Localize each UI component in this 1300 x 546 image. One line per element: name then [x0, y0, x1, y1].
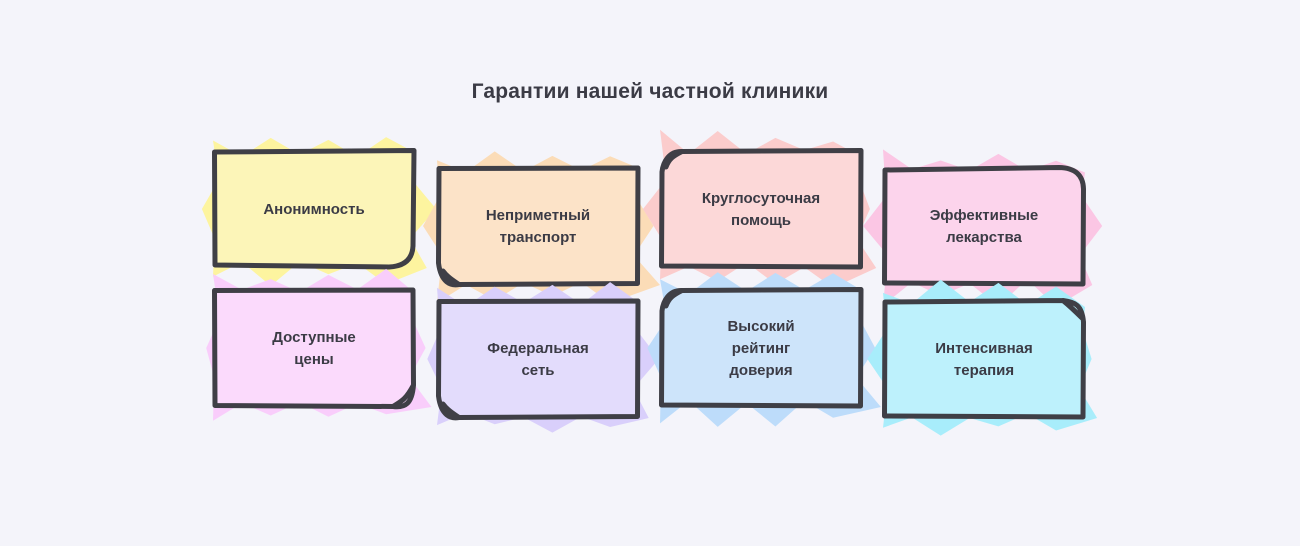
- card-label: Эффективные лекарства: [893, 167, 1075, 287]
- guarantee-card[interactable]: Эффективные лекарства: [883, 167, 1085, 285]
- guarantee-card[interactable]: Анонимность: [213, 150, 415, 268]
- card-label: Федеральная сеть: [447, 300, 629, 420]
- guarantee-card[interactable]: Высокий рейтинг доверия: [660, 289, 862, 407]
- card-label: Анонимность: [223, 150, 405, 270]
- guarantee-card[interactable]: Интенсивная терапия: [883, 300, 1085, 418]
- guarantee-card[interactable]: Круглосуточная помощь: [660, 150, 862, 268]
- card-label: Интенсивная терапия: [893, 300, 1075, 420]
- card-label: Доступные цены: [223, 289, 405, 409]
- guarantee-card-grid: АнонимностьНеприметный транспортКруглосу…: [0, 0, 1300, 546]
- card-label: Высокий рейтинг доверия: [670, 289, 852, 409]
- card-label: Неприметный транспорт: [447, 167, 629, 287]
- infographic-canvas: Гарантии нашей частной клиники Анонимнос…: [0, 0, 1300, 546]
- guarantee-card[interactable]: Доступные цены: [213, 289, 415, 407]
- card-label: Круглосуточная помощь: [670, 150, 852, 270]
- guarantee-card[interactable]: Неприметный транспорт: [437, 167, 639, 285]
- guarantee-card[interactable]: Федеральная сеть: [437, 300, 639, 418]
